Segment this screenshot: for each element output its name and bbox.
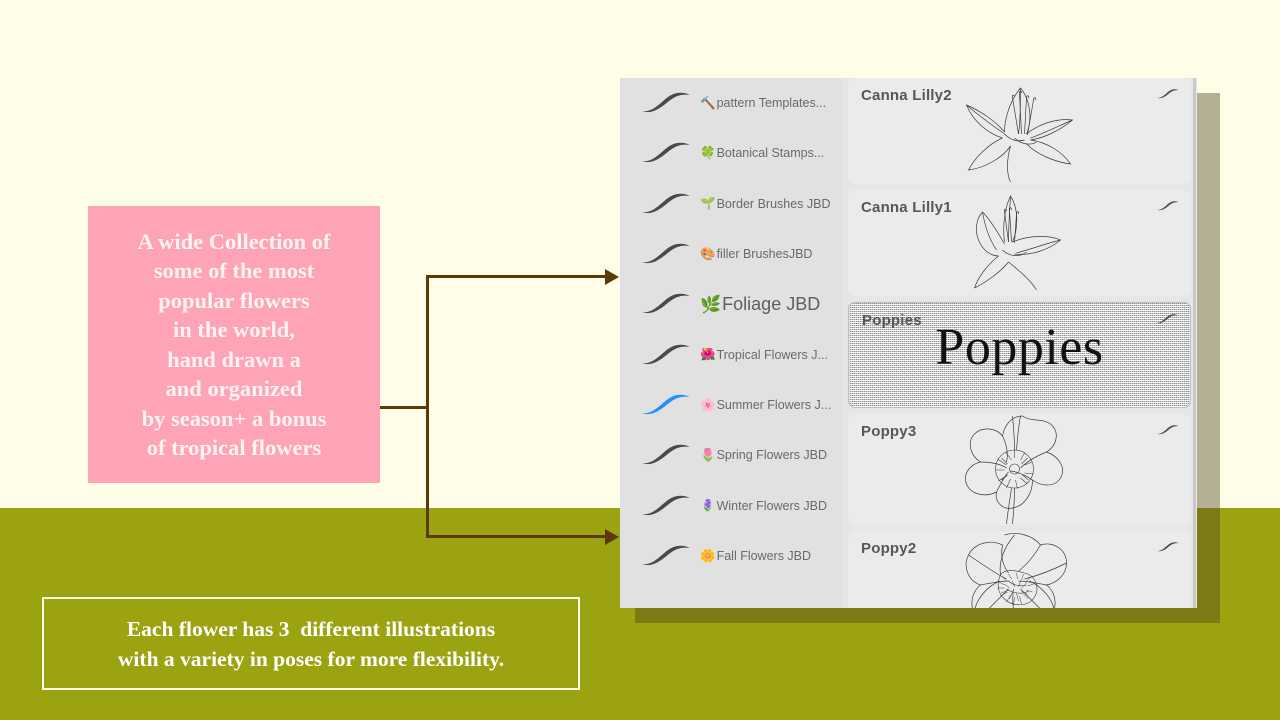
- brush-stroke-icon: [632, 290, 700, 318]
- brush-card-poppy3[interactable]: Poppy3: [848, 414, 1191, 525]
- sidebar-item-botanical-stamps[interactable]: 🍀 Botanical Stamps...: [620, 128, 842, 178]
- sidebar-item-label-group: 🌿 Foliage JBD: [700, 294, 820, 315]
- olive-callout-line: Each flower has 3 different illustration…: [127, 614, 495, 644]
- arrowhead-top-icon: [605, 269, 619, 285]
- connector-vertical: [426, 275, 429, 538]
- connector-horizontal-bottom: [426, 535, 612, 538]
- pink-callout-line: by season+ a bonus: [142, 404, 327, 434]
- pink-callout-line: some of the most: [154, 256, 315, 286]
- herb-icon: 🌿: [700, 296, 721, 313]
- sidebar-item-summer-flowers[interactable]: 🌸 Summer Flowers J...: [620, 380, 842, 430]
- sidebar-item-filler-brushes[interactable]: 🎨 filler BrushesJBD: [620, 229, 842, 279]
- blossom-icon: 🌼: [700, 550, 716, 563]
- brush-stroke-icon: [632, 492, 700, 520]
- sidebar-item-label: filler BrushesJBD: [717, 247, 813, 261]
- brush-stroke-icon: [1155, 87, 1181, 106]
- sidebar-item-label: Summer Flowers J...: [717, 398, 832, 412]
- sidebar-item-label-group: 🌼 Fall Flowers JBD: [700, 549, 811, 563]
- brush-stroke-icon: [632, 240, 700, 268]
- sidebar-item-label: pattern Templates...: [717, 96, 827, 110]
- brush-stroke-icon: [632, 341, 700, 369]
- sidebar-item-fall-flowers[interactable]: 🌼 Fall Flowers JBD: [620, 531, 842, 581]
- brush-card-poppy2[interactable]: Poppy2: [848, 531, 1191, 608]
- pink-callout-line: A wide Collection of: [137, 227, 330, 257]
- sidebar-item-tropical-flowers[interactable]: 🌺 Tropical Flowers J...: [620, 329, 842, 379]
- palette-icon: 🎨: [700, 248, 716, 261]
- brush-stroke-icon: [1155, 199, 1181, 218]
- brush-card-title: Canna Lilly2: [861, 87, 952, 104]
- sidebar-item-label-group: 🌸 Summer Flowers J...: [700, 398, 831, 412]
- pink-callout-line: in the world,: [173, 315, 295, 345]
- brush-stroke-icon: [632, 542, 700, 570]
- sidebar-item-label: Border Brushes JBD: [717, 197, 831, 211]
- sidebar-item-label-group: 🍀 Botanical Stamps...: [700, 146, 824, 160]
- brush-stroke-icon: [1155, 540, 1181, 559]
- hammer-icon: 🔨: [700, 97, 716, 110]
- sidebar-item-label-group: 🌺 Tropical Flowers J...: [700, 348, 828, 362]
- arrowhead-bottom-icon: [605, 529, 619, 545]
- brush-stroke-icon-active: [632, 391, 700, 419]
- hibiscus-icon: 🌺: [700, 348, 716, 361]
- sidebar-item-label: Tropical Flowers J...: [717, 348, 828, 362]
- brush-set-sidebar[interactable]: 🔨 pattern Templates... 🍀 Botanical Stamp…: [620, 78, 842, 608]
- tulip-icon: 🌷: [700, 449, 716, 462]
- sidebar-item-label: Fall Flowers JBD: [717, 549, 811, 563]
- sidebar-item-label-group: 🌱 Border Brushes JBD: [700, 197, 831, 211]
- slide-canvas: A wide Collection of some of the most po…: [0, 0, 1280, 720]
- brush-stroke-icon: [632, 190, 700, 218]
- sidebar-item-label-group: 🔨 pattern Templates...: [700, 96, 826, 110]
- brush-card-canna-lilly2[interactable]: Canna Lilly2: [848, 78, 1191, 184]
- brush-stroke-icon: [632, 139, 700, 167]
- clover-icon: 🍀: [700, 147, 716, 160]
- cards-scrollbar[interactable]: [1193, 78, 1196, 608]
- sidebar-item-label-group: 🎨 filler BrushesJBD: [700, 247, 812, 261]
- pink-description-callout: A wide Collection of some of the most po…: [88, 206, 380, 483]
- cherry-blossom-icon: 🌸: [700, 399, 716, 412]
- sidebar-item-label: Spring Flowers JBD: [717, 448, 827, 462]
- sidebar-item-label: Botanical Stamps...: [717, 146, 825, 160]
- pink-callout-line: and organized: [166, 374, 303, 404]
- brush-card-title: Poppies: [862, 312, 922, 329]
- brush-stroke-icon: [1154, 312, 1180, 331]
- brush-stroke-icon: [632, 89, 700, 117]
- brush-card-title: Canna Lilly1: [861, 199, 952, 216]
- sidebar-item-winter-flowers[interactable]: 🪻 Winter Flowers JBD: [620, 480, 842, 530]
- pink-callout-line: popular flowers: [158, 286, 309, 316]
- sidebar-item-label-group: 🌷 Spring Flowers JBD: [700, 448, 827, 462]
- connector-stub: [380, 406, 429, 409]
- olive-callout-line: with a variety in poses for more flexibi…: [118, 644, 504, 674]
- sidebar-item-border-brushes[interactable]: 🌱 Border Brushes JBD: [620, 179, 842, 229]
- pink-callout-line: of tropical flowers: [147, 433, 322, 463]
- brush-card-list[interactable]: Canna Lilly2: [842, 78, 1197, 608]
- hyacinth-icon: 🪻: [700, 499, 716, 512]
- brush-card-title: Poppy3: [861, 423, 916, 440]
- seedling-icon: 🌱: [700, 197, 716, 210]
- brush-card-poppies-selected[interactable]: Poppies Poppies: [848, 302, 1191, 408]
- brush-stroke-icon: [1155, 423, 1181, 442]
- sidebar-item-label: Winter Flowers JBD: [717, 499, 827, 513]
- pink-callout-line: hand drawn a: [167, 345, 301, 375]
- sidebar-item-foliage[interactable]: 🌿 Foliage JBD: [620, 279, 842, 329]
- brush-stroke-icon: [632, 441, 700, 469]
- sidebar-item-pattern-templates[interactable]: 🔨 pattern Templates...: [620, 78, 842, 128]
- connector-horizontal-top: [426, 275, 612, 278]
- olive-description-callout: Each flower has 3 different illustration…: [42, 597, 580, 690]
- sidebar-item-label-group: 🪻 Winter Flowers JBD: [700, 499, 827, 513]
- brush-card-canna-lilly1[interactable]: Canna Lilly1: [848, 190, 1191, 296]
- brush-card-title: Poppy2: [861, 540, 916, 557]
- sidebar-item-label: Foliage JBD: [722, 294, 820, 315]
- brush-library-panel: 🔨 pattern Templates... 🍀 Botanical Stamp…: [620, 78, 1197, 608]
- sidebar-item-spring-flowers[interactable]: 🌷 Spring Flowers JBD: [620, 430, 842, 480]
